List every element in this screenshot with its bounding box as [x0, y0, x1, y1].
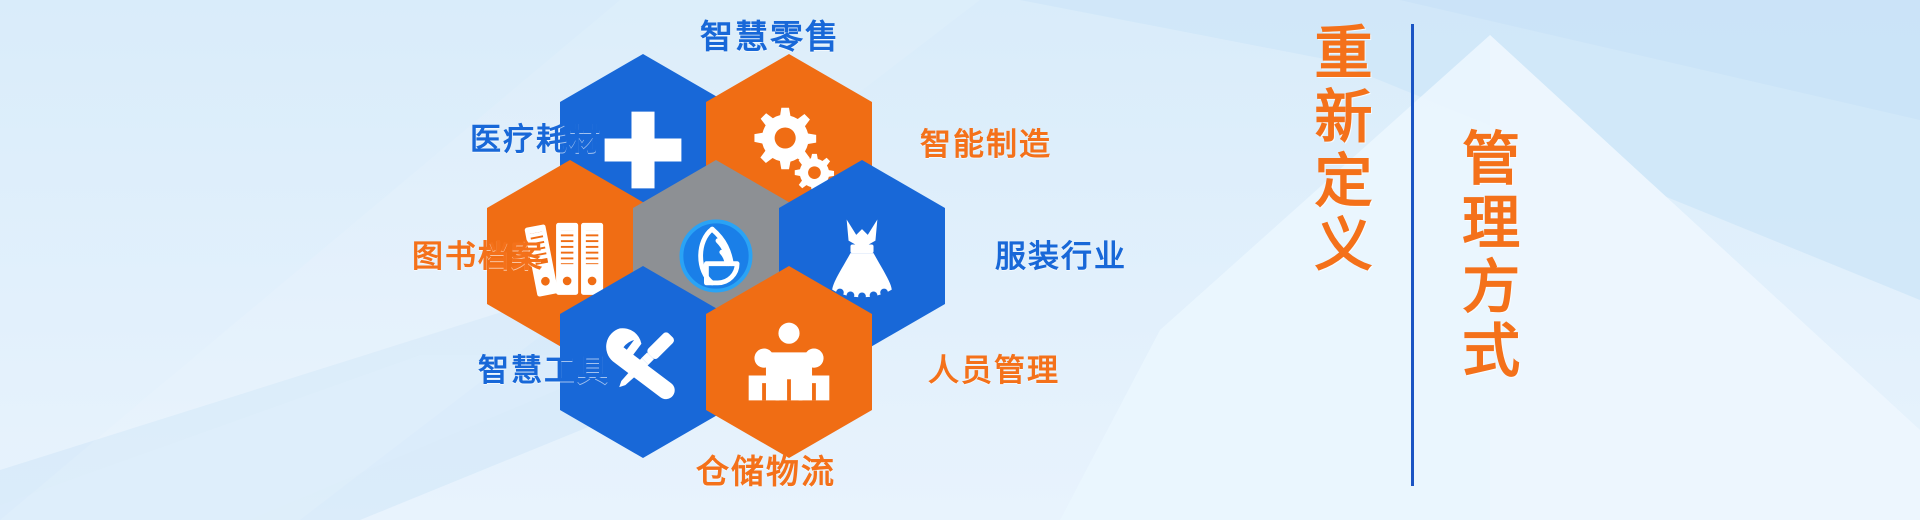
label-apparel: 服装行业 [995, 241, 1127, 272]
label-tools: 智慧工具 [478, 355, 610, 386]
label-people: 人员管理 [928, 355, 1060, 386]
label-warehouse: 仓储物流 [696, 455, 836, 488]
slogan-block: 重新定义 管理方式 [1300, 8, 1524, 512]
banner-root: 智慧零售 医疗耗材 智能制造 图书档案 服装行业 智慧工具 人员管理 仓储物流 … [0, 0, 1920, 520]
label-books: 图书档案 [412, 241, 544, 272]
hexagon-cluster [556, 54, 976, 466]
slogan-left-column: 重新定义 [1300, 8, 1377, 278]
label-retail: 智慧零售 [700, 20, 840, 53]
label-manufacture: 智能制造 [920, 129, 1052, 160]
slogan-right-column: 管理方式 [1448, 8, 1525, 384]
label-medical: 医疗耗材 [470, 124, 602, 155]
people-group-icon [741, 314, 837, 410]
slogan-divider [1411, 24, 1414, 486]
